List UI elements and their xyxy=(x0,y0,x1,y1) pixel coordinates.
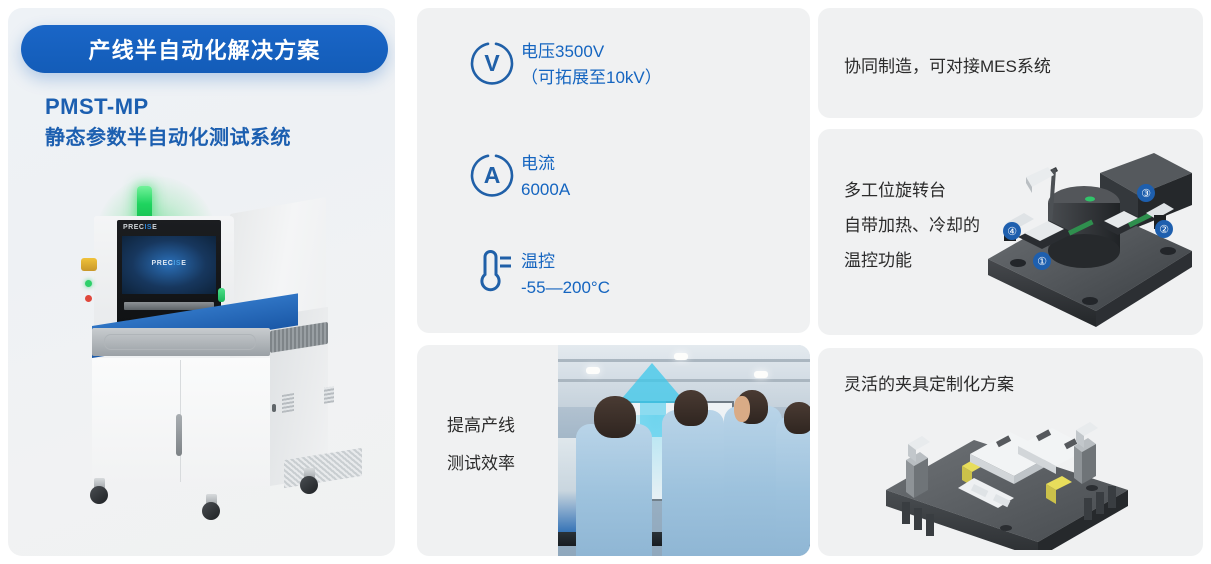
worker-face xyxy=(734,396,750,422)
cabinet-vent-two xyxy=(324,386,334,404)
mes-integration-card: 协同制造，可对接MES系统 xyxy=(818,8,1203,118)
caster-wheel xyxy=(90,478,112,504)
cabinet-lock-hole xyxy=(272,404,276,412)
spec-voltage-line1: 电压3500V xyxy=(521,42,604,61)
spec-temperature-line2: -55—200°C xyxy=(521,275,610,301)
specifications-card: V 电压3500V （可拓展至10kV） A 电流 6000A xyxy=(417,8,810,333)
rotary-line3: 温控功能 xyxy=(844,243,980,278)
machine-screen-logo: PRECISE xyxy=(122,260,216,267)
efficiency-photo xyxy=(558,345,810,556)
product-code: PMST-MP xyxy=(45,93,149,121)
product-hero-panel: 产线半自动化解决方案 PMST-MP 静态参数半自动化测试系统 PRECISE … xyxy=(8,8,395,556)
machine-brand-logo: PRECISE xyxy=(123,224,157,231)
led-green-icon xyxy=(85,280,92,287)
worker-figure xyxy=(776,416,810,556)
svg-text:①: ① xyxy=(1037,255,1047,268)
worker-head xyxy=(594,396,636,438)
spec-current-line1: 电流 xyxy=(521,154,555,173)
rotary-line2: 自带加热、冷却的 xyxy=(844,208,980,243)
fixture-title: 灵活的夹具定制化方案 xyxy=(844,370,1014,395)
fixture-render xyxy=(878,402,1148,550)
voltmeter-icon: V xyxy=(463,38,521,88)
worker-figure xyxy=(724,406,782,556)
poster-canvas: 产线半自动化解决方案 PMST-MP 静态参数半自动化测试系统 PRECISE … xyxy=(0,0,1211,564)
product-name: 静态参数半自动化测试系统 xyxy=(45,125,291,151)
side-status-led-icon xyxy=(218,288,225,302)
thermometer-icon xyxy=(463,248,521,298)
cabinet-vent-one xyxy=(282,393,294,413)
ammeter-icon: A xyxy=(463,150,521,200)
rotary-text: 多工位旋转台 自带加热、冷却的 温控功能 xyxy=(844,173,980,278)
ceiling-lamp-icon xyxy=(674,353,688,360)
mes-text: 协同制造，可对接MES系统 xyxy=(844,52,1051,77)
rotary-table-render: ① ② ③ ④ xyxy=(978,141,1203,327)
worker-head xyxy=(674,390,708,426)
spec-item-temperature: 温控 -55—200°C xyxy=(463,248,610,301)
worker-head xyxy=(784,402,810,434)
solution-title-pill: 产线半自动化解决方案 xyxy=(21,25,388,73)
efficiency-card: 提高产线 测试效率 xyxy=(417,345,810,556)
caster-wheel xyxy=(202,494,224,520)
spec-item-current: A 电流 6000A xyxy=(463,150,570,203)
rotary-line1: 多工位旋转台 xyxy=(844,173,980,208)
rotary-table-card: 多工位旋转台 自带加热、冷却的 温控功能 xyxy=(818,129,1203,335)
efficiency-line2: 测试效率 xyxy=(447,445,515,483)
worker-figure xyxy=(576,424,652,556)
efficiency-text: 提高产线 测试效率 xyxy=(447,407,515,483)
spec-current-text: 电流 6000A xyxy=(521,150,570,203)
machine-display-screen: PRECISE xyxy=(122,236,216,294)
spec-item-voltage: V 电压3500V （可拓展至10kV） xyxy=(463,38,662,91)
worker-figure xyxy=(662,410,724,556)
svg-text:②: ② xyxy=(1159,223,1169,236)
svg-text:V: V xyxy=(484,50,500,76)
fixture-customization-card: 灵活的夹具定制化方案 xyxy=(818,348,1203,556)
led-red-icon xyxy=(85,295,92,302)
efficiency-line1: 提高产线 xyxy=(447,407,515,445)
ceiling-lamp-icon xyxy=(754,371,768,378)
emergency-stop-icon xyxy=(81,258,97,271)
solution-title-text: 产线半自动化解决方案 xyxy=(88,33,320,65)
cabinet-door-handle xyxy=(176,414,182,456)
svg-text:④: ④ xyxy=(1007,225,1017,238)
machine-band-inset xyxy=(104,334,256,350)
test-system-machine-illustration: PRECISE PRECISE xyxy=(54,176,354,546)
spec-voltage-text: 电压3500V （可拓展至10kV） xyxy=(521,38,662,91)
caster-wheel xyxy=(300,468,322,494)
spec-temperature-line1: 温控 xyxy=(521,252,555,271)
spec-current-line2: 6000A xyxy=(521,177,570,203)
svg-text:③: ③ xyxy=(1141,187,1151,200)
svg-text:A: A xyxy=(484,162,501,188)
ceiling-lamp-icon xyxy=(586,367,600,374)
spec-temperature-text: 温控 -55—200°C xyxy=(521,248,610,301)
spec-voltage-line2: （可拓展至10kV） xyxy=(521,65,662,91)
